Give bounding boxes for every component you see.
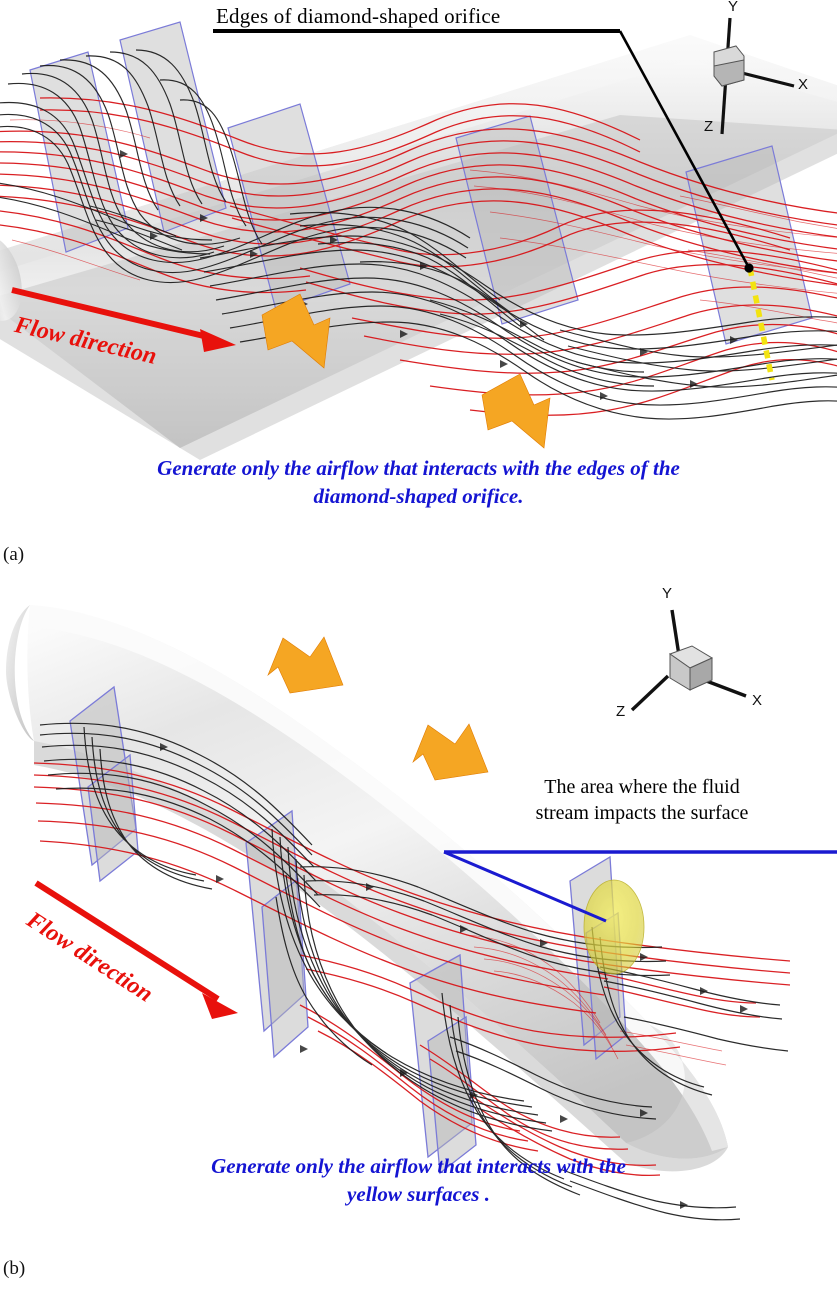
panel-b-caption-line1: Generate only the airflow that interacts… [0,1153,837,1181]
axis-label-x-a: X [798,76,808,93]
panel-a-caption-line2: diamond-shaped orifice. [0,483,837,511]
axis-label-y-b: Y [662,585,672,602]
panel-label-b: (b) [3,1258,25,1280]
impact-area-annotation-line2: stream impacts the surface [448,801,836,827]
callout-title-orifice-edges: Edges of diamond-shaped orifice [216,4,500,29]
axis-label-y-a: Y [728,0,738,15]
axis-label-z-b: Z [616,703,625,720]
figure-root: Edges of diamond-shaped orifice Y X Z Fl… [0,0,837,1293]
axis-label-x-b: X [752,692,762,709]
panel-a-caption-line1: Generate only the airflow that interacts… [0,455,837,483]
axis-triad-b [580,580,780,740]
panel-b-caption-line2: yellow surfaces . [0,1181,837,1209]
panel-b: Y X Z The area where the fluid stream im… [0,575,837,1275]
panel-a-caption: Generate only the airflow that interacts… [0,455,837,510]
impact-area-annotation: The area where the fluid stream impacts … [448,775,836,826]
impact-area-annotation-line1: The area where the fluid [448,775,836,801]
panel-b-caption: Generate only the airflow that interacts… [0,1153,837,1208]
axis-label-z-a: Z [704,118,713,135]
panel-label-a: (a) [3,544,24,566]
panel-a: Edges of diamond-shaped orifice Y X Z Fl… [0,0,837,560]
